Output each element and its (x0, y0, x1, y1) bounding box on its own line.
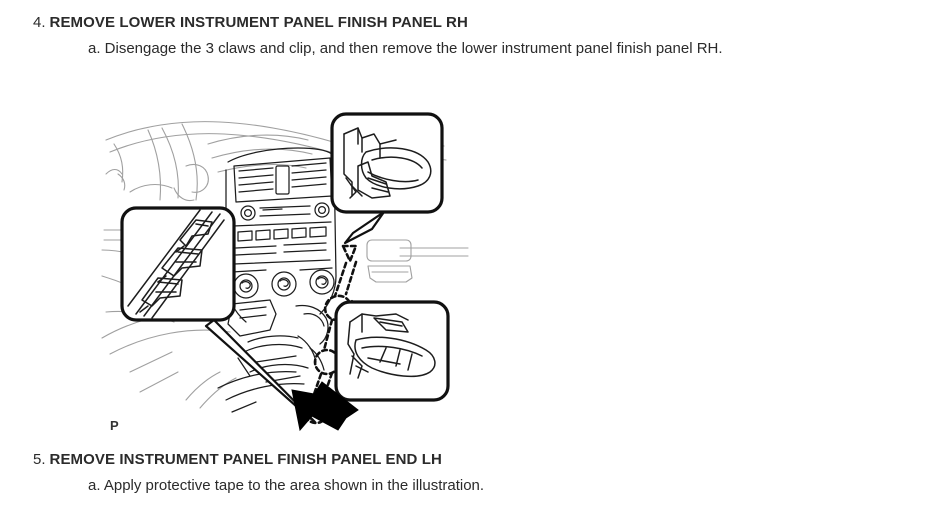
step-4-number: 4. (33, 14, 46, 31)
step-4-title: REMOVE LOWER INSTRUMENT PANEL FINISH PAN… (50, 14, 468, 31)
step-5-number: 5. (33, 451, 46, 468)
step-5-title: REMOVE INSTRUMENT PANEL FINISH PANEL END… (50, 451, 442, 468)
claw-detail-callout (336, 302, 448, 400)
figure-label: P (110, 418, 119, 433)
step-5-block: 5.REMOVE INSTRUMENT PANEL FINISH PANEL E… (0, 450, 942, 496)
step-4-block: 4.REMOVE LOWER INSTRUMENT PANEL FINISH P… (0, 13, 942, 59)
service-manual-page: 4.REMOVE LOWER INSTRUMENT PANEL FINISH P… (0, 0, 942, 518)
instrument-panel-illustration: P (100, 100, 470, 445)
step-5-heading: 5.REMOVE INSTRUMENT PANEL FINISH PANEL E… (33, 450, 942, 470)
step-4-substep-a: a. Disengage the 3 claws and clip, and t… (33, 39, 942, 59)
center-console-group (218, 148, 336, 412)
clip-detail-callout (332, 114, 442, 212)
step-4-heading: 4.REMOVE LOWER INSTRUMENT PANEL FINISH P… (33, 13, 942, 33)
illustration-svg (100, 100, 470, 445)
claws-detail-callout (122, 208, 234, 320)
step-5-substep-a: a. Apply protective tape to the area sho… (33, 476, 942, 496)
